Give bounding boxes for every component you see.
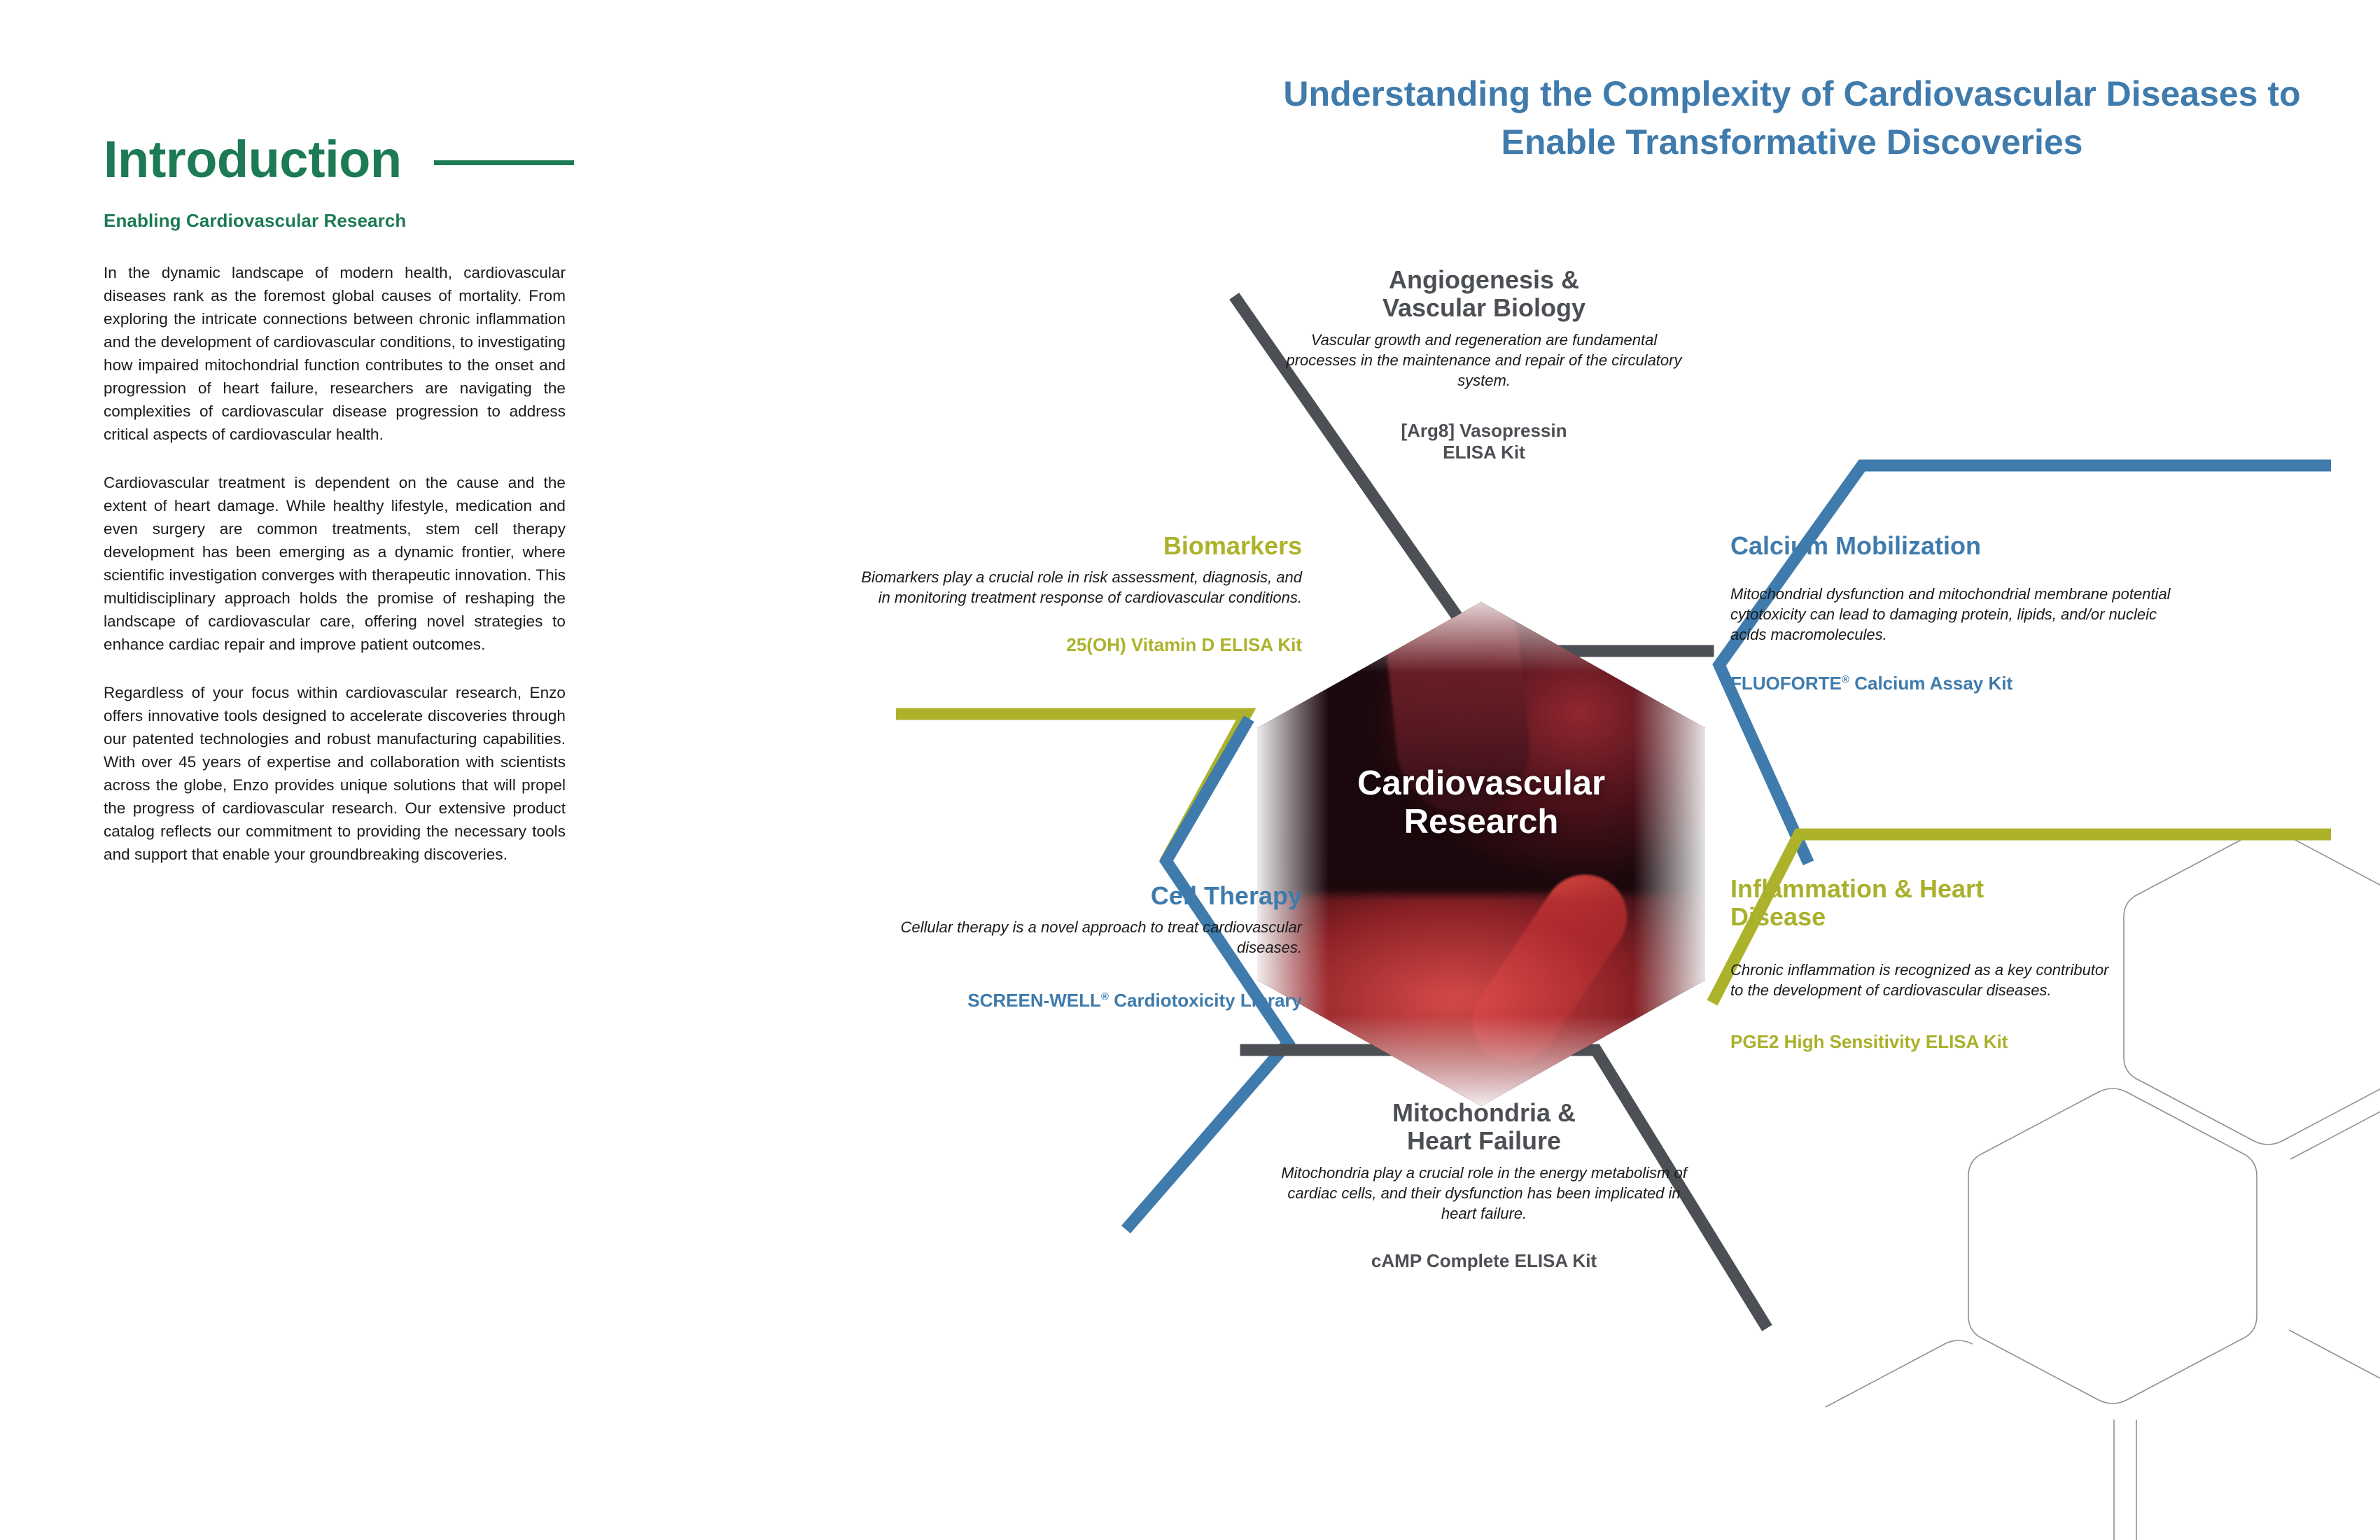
spoke-angiogenesis-product-line2: ELISA Kit <box>1246 442 1722 463</box>
spoke-inflammation-title-line1: Inflammation & Heart <box>1730 875 2178 903</box>
connector-line-biomarkers <box>896 714 1246 857</box>
spoke-inflammation-title: Inflammation & Heart Disease <box>1730 875 2178 932</box>
spoke-cell-therapy-product-name: SCREEN-WELL <box>967 990 1101 1011</box>
hexagon-diagram: Cardiovascular Research Angiogenesis & V… <box>896 231 2331 1421</box>
spoke-inflammation-product[interactable]: PGE2 High Sensitivity ELISA Kit <box>1730 1031 2178 1053</box>
spoke-angiogenesis: Angiogenesis & Vascular Biology Vascular… <box>1246 266 1722 463</box>
spoke-inflammation-description: Chronic inflammation is recognized as a … <box>1730 960 2122 1000</box>
spoke-calcium-product-suffix: Calcium Assay Kit <box>1849 673 2012 694</box>
page-title: Introduction <box>104 134 402 185</box>
introduction-column: Introduction Enabling Cardiovascular Res… <box>104 126 566 882</box>
spoke-angiogenesis-description: Vascular growth and regeneration are fun… <box>1246 330 1722 391</box>
spoke-mitochondria-title: Mitochondria & Heart Failure <box>1239 1099 1729 1156</box>
introduction-paragraph-3: Regardless of your focus within cardiova… <box>104 681 566 866</box>
spoke-cell-therapy-product[interactable]: SCREEN-WELL® Cardiotoxicity Library <box>798 990 1302 1011</box>
spoke-biomarkers: Biomarkers Biomarkers play a crucial rol… <box>798 532 1302 657</box>
spoke-calcium-description: Mitochondrial dysfunction and mitochondr… <box>1730 584 2178 645</box>
spoke-biomarkers-description: Biomarkers play a crucial role in risk a… <box>798 567 1302 608</box>
spoke-mitochondria-heart-failure: Mitochondria & Heart Failure Mitochondri… <box>1239 1099 1729 1272</box>
introduction-subtitle: Enabling Cardiovascular Research <box>104 210 566 232</box>
main-heading: Understanding the Complexity of Cardiova… <box>1246 70 2338 167</box>
spoke-inflammation-title-line2: Disease <box>1730 903 2178 931</box>
spoke-calcium-product[interactable]: FLUOFORTE® Calcium Assay Kit <box>1730 673 2178 694</box>
spoke-cell-therapy-product-suffix: Cardiotoxicity Library <box>1109 990 1302 1011</box>
introduction-paragraph-2: Cardiovascular treatment is dependent on… <box>104 471 566 656</box>
introduction-paragraph-1: In the dynamic landscape of modern healt… <box>104 261 566 446</box>
spoke-calcium-mobilization: Calcium Mobilization Mitochondrial dysfu… <box>1730 532 2178 695</box>
spoke-cell-therapy-title: Cell Therapy <box>798 882 1302 910</box>
spoke-biomarkers-title: Biomarkers <box>798 532 1302 560</box>
spoke-angiogenesis-product-line1: [Arg8] Vasopressin <box>1246 420 1722 442</box>
spoke-angiogenesis-title-line1: Angiogenesis & <box>1246 266 1722 294</box>
registered-trademark-icon: ® <box>1842 674 1849 686</box>
spoke-angiogenesis-product[interactable]: [Arg8] Vasopressin ELISA Kit <box>1246 420 1722 463</box>
spoke-mitochondria-title-line1: Mitochondria & <box>1239 1099 1729 1127</box>
spoke-biomarkers-product[interactable]: 25(OH) Vitamin D ELISA Kit <box>798 634 1302 656</box>
spoke-mitochondria-description: Mitochondria play a crucial role in the … <box>1239 1163 1729 1224</box>
introduction-header: Introduction <box>104 126 566 193</box>
spoke-mitochondria-product[interactable]: cAMP Complete ELISA Kit <box>1239 1250 1729 1272</box>
spoke-calcium-product-name: FLUOFORTE <box>1730 673 1842 694</box>
spoke-inflammation-heart-disease: Inflammation & Heart Disease Chronic inf… <box>1730 875 2178 1053</box>
title-divider-rule <box>434 160 574 165</box>
spoke-angiogenesis-title-line2: Vascular Biology <box>1246 294 1722 322</box>
spoke-cell-therapy-description: Cellular therapy is a novel approach to … <box>798 917 1302 958</box>
spoke-cell-therapy: Cell Therapy Cellular therapy is a novel… <box>798 882 1302 1012</box>
spoke-angiogenesis-title: Angiogenesis & Vascular Biology <box>1246 266 1722 323</box>
spoke-mitochondria-title-line2: Heart Failure <box>1239 1127 1729 1155</box>
spoke-calcium-title: Calcium Mobilization <box>1730 532 2178 560</box>
registered-trademark-icon: ® <box>1101 991 1109 1003</box>
